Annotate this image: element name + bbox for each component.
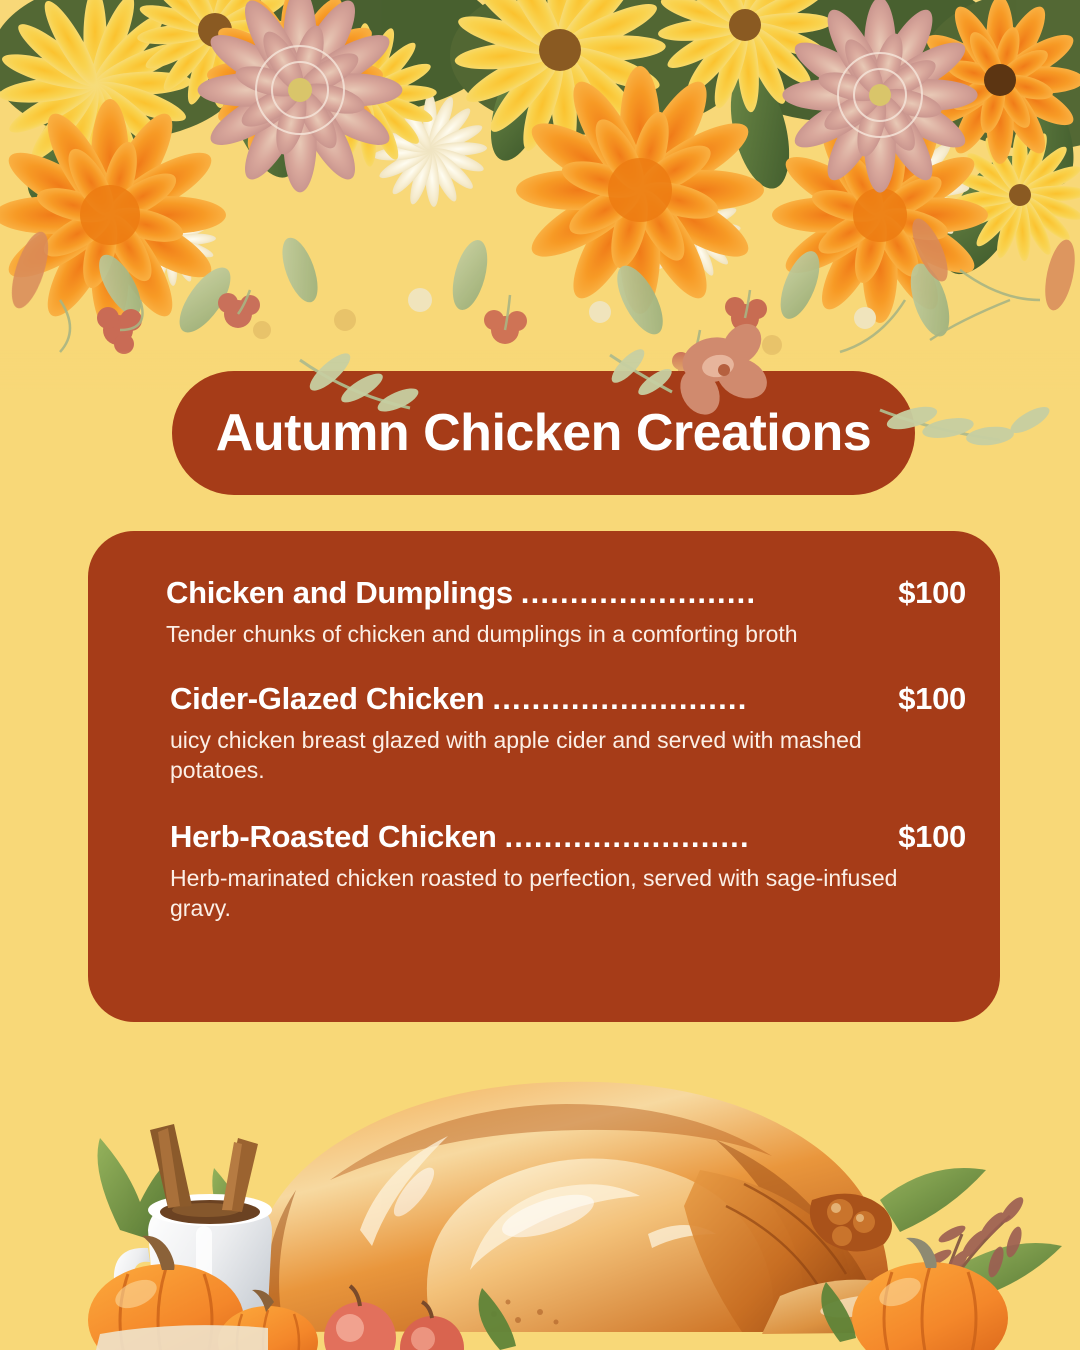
menu-item-name: Herb-Roasted Chicken <box>170 819 496 856</box>
menu-item-header: Chicken and Dumplings ..................… <box>166 575 966 612</box>
menu-item-description: uicy chicken breast glazed with apple ci… <box>170 725 900 786</box>
menu-card: Chicken and Dumplings ..................… <box>88 531 1000 1022</box>
turkey-illustration <box>0 1020 1080 1350</box>
menu-item-price: $100 <box>898 575 966 612</box>
dot-leader: .......................... <box>492 681 896 718</box>
menu-item-name: Chicken and Dumplings <box>166 575 513 612</box>
menu-item-price: $100 <box>898 681 966 718</box>
menu-item-price: $100 <box>898 819 966 856</box>
menu-item-description: Tender chunks of chicken and dumplings i… <box>166 619 896 649</box>
dot-leader: ........................ <box>521 575 896 612</box>
menu-item-description: Herb-marinated chicken roasted to perfec… <box>170 863 900 924</box>
menu-poster: Autumn Chicken Creations <box>0 0 1080 1350</box>
floral-header-decoration <box>0 0 1080 390</box>
menu-item: Chicken and Dumplings ..................… <box>166 575 966 649</box>
page-title: Autumn Chicken Creations <box>216 403 871 463</box>
menu-item: Herb-Roasted Chicken ...................… <box>166 819 966 923</box>
dot-leader: ......................... <box>504 819 896 856</box>
menu-item-name: Cider-Glazed Chicken <box>170 681 484 718</box>
title-banner: Autumn Chicken Creations <box>172 371 915 495</box>
menu-item: Cider-Glazed Chicken ...................… <box>166 681 966 785</box>
menu-item-header: Cider-Glazed Chicken ...................… <box>170 681 966 718</box>
menu-item-header: Herb-Roasted Chicken ...................… <box>170 819 966 856</box>
